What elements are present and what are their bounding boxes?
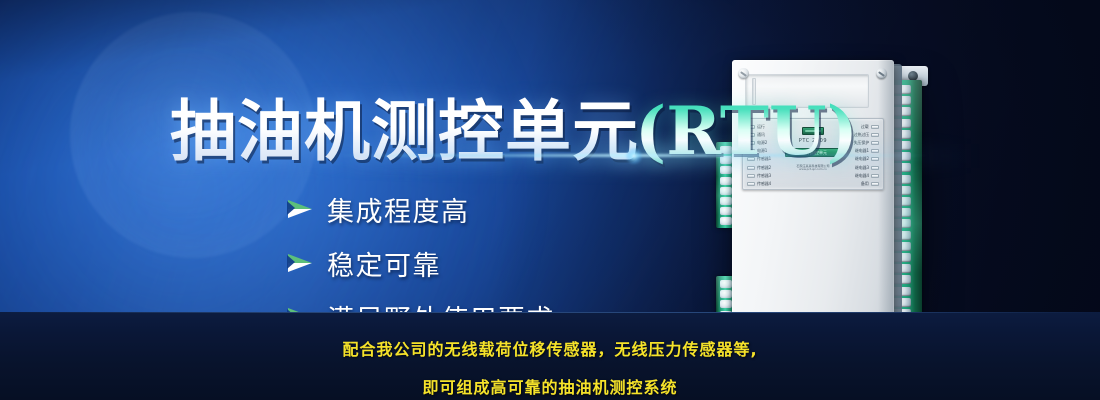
led-icon: [871, 174, 879, 178]
footer-line-2: 即可组成高可靠的抽油机测控系统: [0, 374, 1100, 398]
led-icon: [871, 133, 879, 137]
led-icon: [747, 182, 755, 186]
indicator-row: 传感器4: [747, 180, 769, 187]
led-icon: [871, 182, 879, 186]
feature-label: 集成程度高: [327, 190, 470, 229]
indicator-row: 备用: [862, 180, 879, 187]
indicator-row: 过载: [862, 123, 879, 130]
indicator-row: 过热过压: [856, 131, 879, 138]
feature-item: 集成程度高: [288, 188, 555, 230]
indicator-row: 继电器4: [857, 172, 879, 179]
footer-line-1: 配合我公司的无线载荷位移传感器，无线压力传感器等,: [0, 336, 1100, 360]
indicator-label: 传感器3: [757, 173, 771, 178]
feature-label: 稳定可靠: [327, 244, 441, 283]
led-icon: [871, 125, 879, 129]
indicator-label: 传感器4: [757, 182, 771, 187]
indicator-label: 备用: [861, 182, 869, 187]
screw-icon: [876, 68, 887, 79]
arrow-bullet-icon: [288, 200, 314, 219]
feature-item: 稳定可靠: [288, 242, 555, 284]
indicator-label: 过载: [861, 124, 869, 129]
arrow-bullet-icon: [288, 254, 314, 273]
led-icon: [747, 174, 755, 178]
rtu-product-banner: 运行 通讯 电源2 电源1: [0, 0, 1100, 400]
flare-point: [626, 148, 642, 164]
indicator-label: 继电器4: [855, 173, 869, 178]
